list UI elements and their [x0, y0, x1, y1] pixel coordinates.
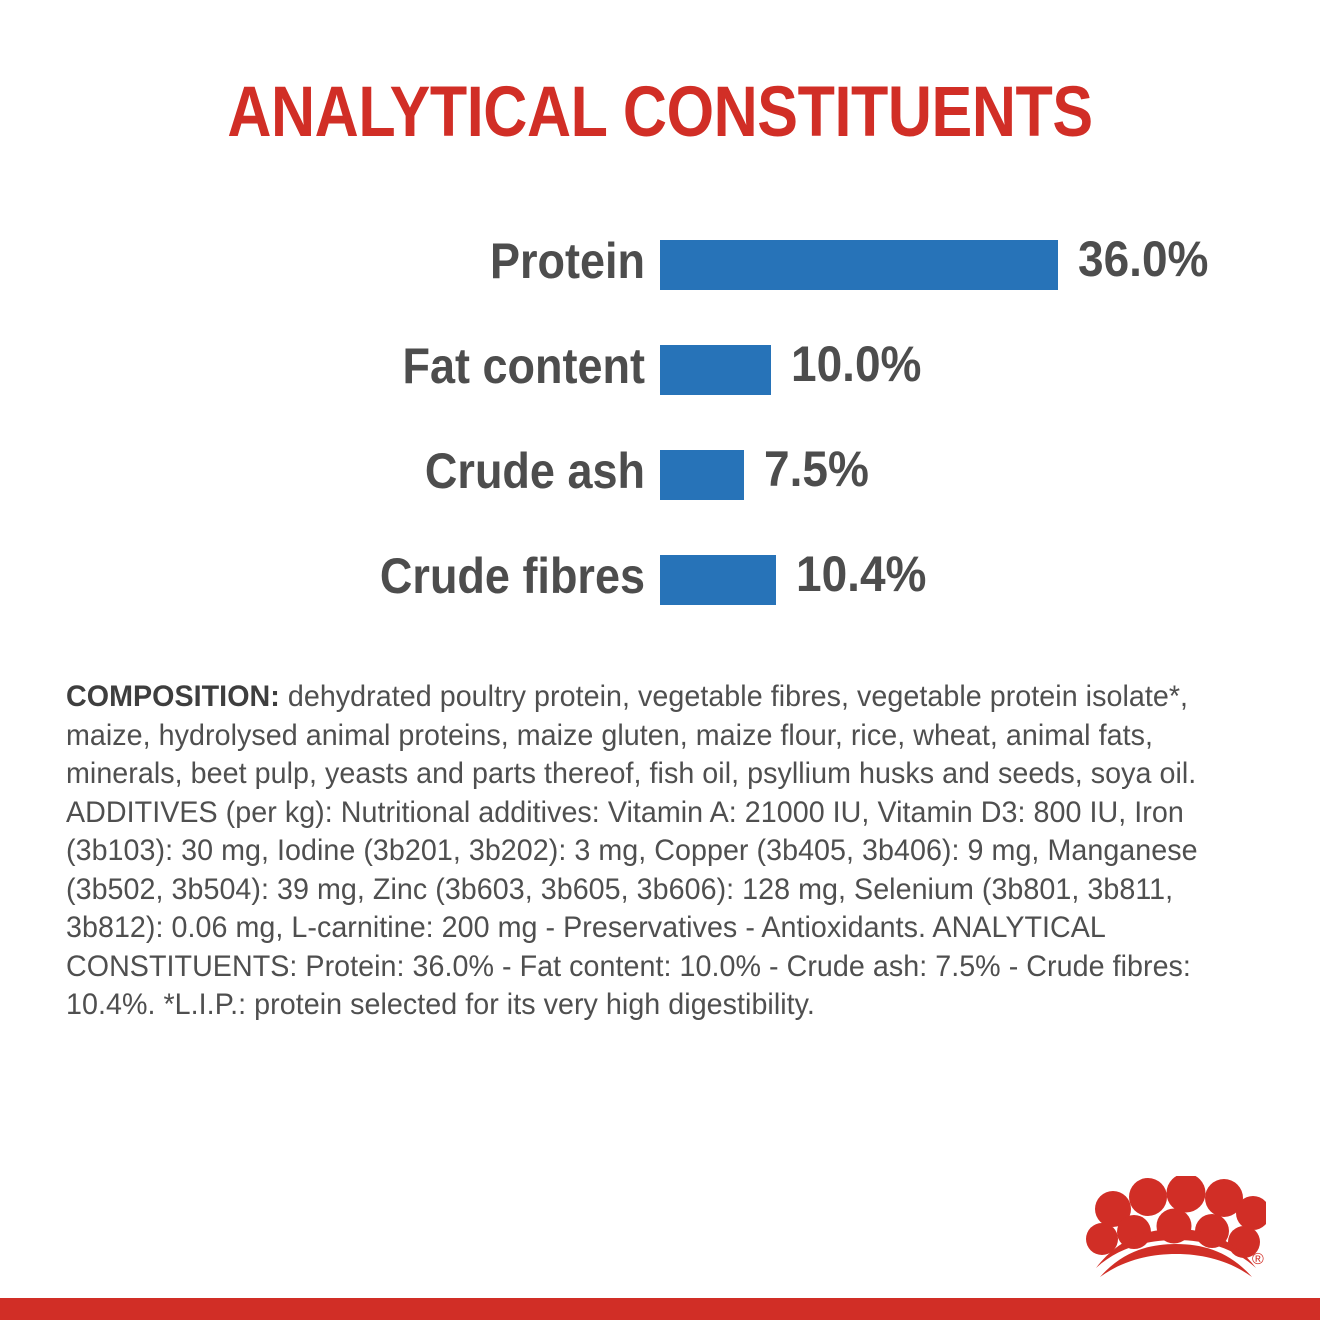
analytical-constituents-chart: Protein 36.0% Fat content 10.0% Crude as…: [0, 232, 1320, 652]
bottom-red-band: [0, 1298, 1320, 1320]
crown-dot-upper-2: [1129, 1178, 1167, 1216]
bar-label-fat-content: Fat content: [141, 337, 645, 395]
composition-body-text: dehydrated poultry protein, vegetable fi…: [66, 680, 1198, 1021]
composition-paragraph: COMPOSITION: dehydrated poultry protein,…: [66, 678, 1212, 1025]
chart-row-crude-fibres: Crude fibres 10.4%: [0, 547, 1320, 652]
page-title: ANALYTICAL CONSTITUENTS: [92, 74, 1227, 152]
bar-value-fat-content: 10.0%: [791, 335, 921, 393]
bar-crude-fibres: [660, 555, 776, 605]
bar-label-protein: Protein: [141, 232, 645, 290]
chart-row-fat-content: Fat content 10.0%: [0, 337, 1320, 442]
bar-crude-ash: [660, 450, 744, 500]
bar-value-protein: 36.0%: [1078, 230, 1208, 288]
bar-value-crude-fibres: 10.4%: [796, 545, 926, 603]
bar-value-crude-ash: 7.5%: [764, 440, 869, 498]
bar-label-crude-ash: Crude ash: [141, 442, 645, 500]
crown-dot-upper-3: [1167, 1176, 1206, 1213]
chart-row-protein: Protein 36.0%: [0, 232, 1320, 337]
bar-protein: [660, 240, 1058, 290]
registered-trademark-mark: ®: [1252, 1251, 1264, 1268]
composition-lead-label: COMPOSITION:: [66, 680, 280, 713]
bar-fat-content: [660, 345, 771, 395]
chart-row-crude-ash: Crude ash 7.5%: [0, 442, 1320, 547]
bar-label-crude-fibres: Crude fibres: [141, 547, 645, 605]
royal-canin-crown-logo: ®: [1086, 1176, 1266, 1278]
